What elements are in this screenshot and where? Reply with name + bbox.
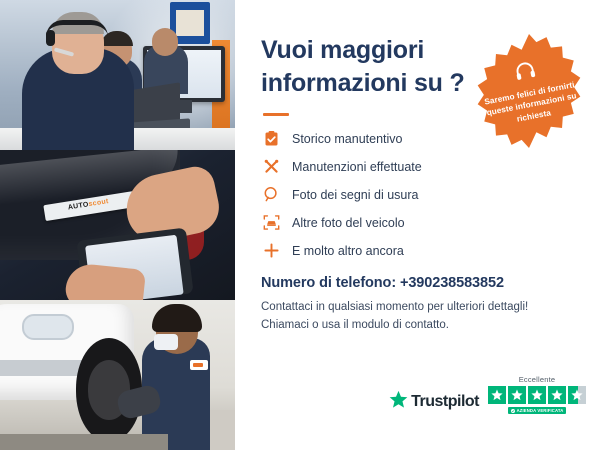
clipboard-check-icon — [261, 129, 281, 149]
headlight — [22, 314, 74, 340]
trustpilot-logo: Trustpilot — [389, 390, 479, 414]
workshop-wheel-photo — [0, 300, 235, 450]
trustpilot-star-icon — [389, 390, 408, 414]
list-item-label: Manutenzioni effettuate — [292, 160, 422, 174]
contact-note-line-1: Contattaci in qualsiasi momento per ulte… — [261, 299, 578, 317]
star-filled — [508, 386, 526, 404]
list-item: Foto dei segni di usura — [261, 184, 578, 205]
star-filled — [548, 386, 566, 404]
contact-note-line-2: Chiamaci o usa il modulo di contatto. — [261, 317, 578, 335]
verified-business-badge: AZIENDA VERIFICATA — [508, 407, 567, 414]
list-item: Altre foto del veicolo — [261, 212, 578, 233]
page-title: Vuoi maggiori informazioni su ? — [261, 34, 476, 100]
magnifier-icon — [261, 185, 281, 205]
check-circle-icon — [511, 409, 515, 413]
call-center-photo — [0, 0, 235, 150]
list-item: E molto altro ancora — [261, 240, 578, 261]
trustpilot-wordmark: Trustpilot — [411, 393, 479, 411]
list-item-label: E molto altro ancora — [292, 244, 404, 258]
trustpilot-stars — [488, 386, 586, 404]
trustpilot-widget[interactable]: Trustpilot Eccellente — [389, 375, 586, 414]
plate-brand: AUTOscout — [67, 198, 109, 211]
trustpilot-rating-word: Eccellente — [519, 375, 556, 384]
car-lift-platform — [0, 434, 168, 450]
star-partial — [568, 386, 586, 404]
plus-icon — [261, 241, 281, 261]
colleague-far-head — [152, 28, 178, 56]
uniform-logo — [190, 360, 208, 370]
photo-column: AUTOscout — [0, 0, 235, 450]
star-filled — [488, 386, 506, 404]
phone-number: Numero di telefono: +390238583852 — [261, 275, 578, 291]
mechanic-face-mask — [154, 334, 178, 350]
tools-wrench-screwdriver-icon — [261, 157, 281, 177]
list-item-label: Altre foto del veicolo — [292, 216, 405, 230]
list-item-label: Foto dei segni di usura — [292, 188, 418, 202]
promo-banner: AUTOscout Vuoi maggiori informazioni su … — [0, 0, 600, 450]
title-underline-rule — [263, 113, 289, 116]
wall-poster-inner — [176, 10, 204, 36]
request-info-badge: Saremo felici di fornirti queste informa… — [470, 32, 588, 150]
mechanic-hair — [152, 304, 202, 332]
license-plate-inspection-photo: AUTOscout — [0, 150, 235, 300]
list-item: Manutenzioni effettuate — [261, 156, 578, 177]
content-panel: Vuoi maggiori informazioni su ? Storico … — [235, 0, 600, 450]
star-filled — [528, 386, 546, 404]
starburst-shape — [470, 32, 588, 150]
agent-headset-earcup — [46, 30, 55, 46]
list-item-label: Storico manutentivo — [292, 132, 402, 146]
car-scan-frame-icon — [261, 213, 281, 233]
front-grille — [0, 360, 88, 376]
verified-label: AZIENDA VERIFICATA — [517, 408, 564, 413]
trustpilot-rating: Eccellente — [488, 375, 586, 414]
agent-headset-band — [46, 20, 108, 37]
